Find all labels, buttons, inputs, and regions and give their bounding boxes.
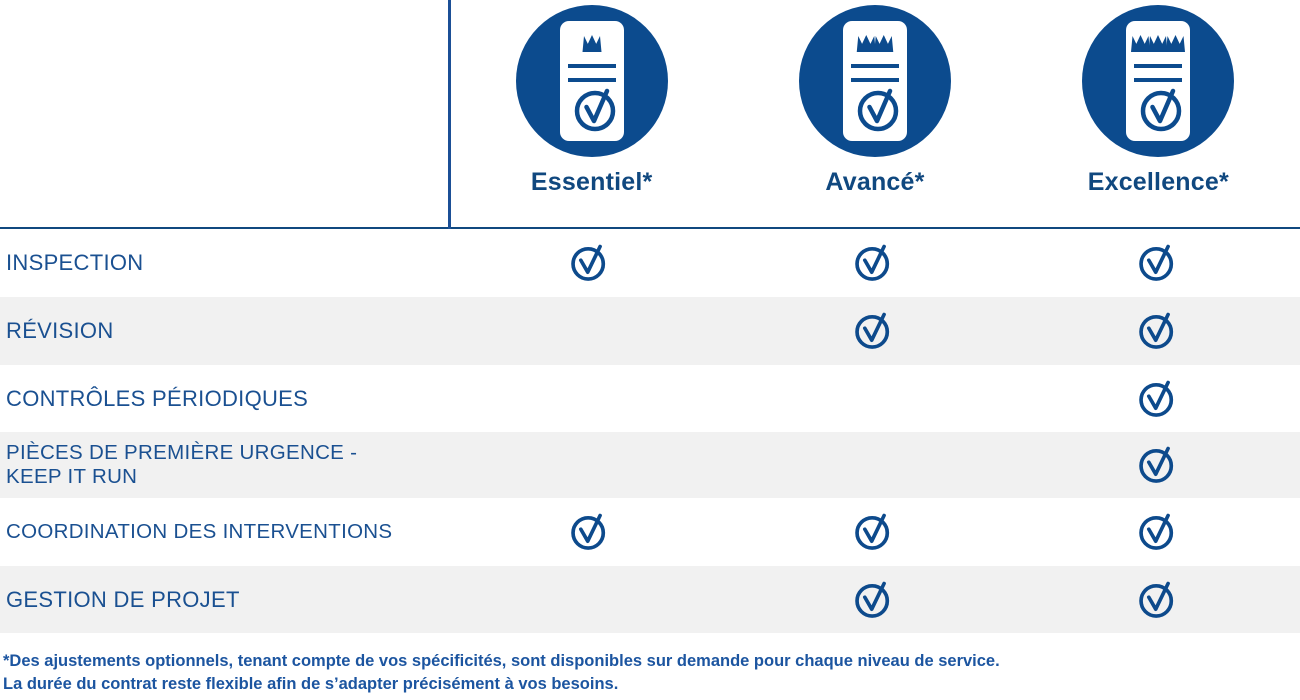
check-circle-icon [1136, 377, 1180, 421]
cell-included [1016, 309, 1300, 353]
row-cells [448, 229, 1300, 297]
row-label: GESTION DE PROJET [0, 587, 448, 613]
cell-included [732, 578, 1016, 622]
table-row: RÉVISION [0, 297, 1300, 365]
check-circle-icon [1136, 309, 1180, 353]
row-label: PIÈCES DE PREMIÈRE URGENCE - KEEP IT RUN [0, 441, 448, 489]
cell-included [732, 241, 1016, 285]
table-row: PIÈCES DE PREMIÈRE URGENCE - KEEP IT RUN [0, 432, 1300, 498]
tier-header-columns: Essentiel* Avancé* Excellence* [450, 0, 1300, 229]
check-circle-icon [1136, 510, 1180, 554]
row-cells [448, 566, 1300, 633]
table-header: Essentiel* Avancé* Excellence* [0, 0, 1300, 229]
certificate-1-crown-icon [516, 5, 668, 157]
tier-label: Avancé* [825, 170, 924, 195]
cell-included [448, 510, 732, 554]
table-row: INSPECTION [0, 229, 1300, 297]
table-body: INSPECTION RÉVISION CONTRÔLES PÉRIODIQUE… [0, 229, 1300, 633]
tier-label: Excellence* [1088, 170, 1229, 195]
row-label: RÉVISION [0, 318, 448, 344]
check-circle-icon [852, 309, 896, 353]
table-row: COORDINATION DES INTERVENTIONS [0, 498, 1300, 566]
cell-included [732, 309, 1016, 353]
tier-column-1: Essentiel* [450, 0, 733, 229]
certificate-3-crowns-icon [1082, 5, 1234, 157]
cell-included [1016, 377, 1300, 421]
row-cells [448, 432, 1300, 498]
row-cells [448, 297, 1300, 365]
row-label: COORDINATION DES INTERVENTIONS [0, 520, 448, 544]
cell-included [732, 510, 1016, 554]
check-circle-icon [852, 578, 896, 622]
check-circle-icon [1136, 241, 1180, 285]
check-circle-icon [852, 241, 896, 285]
cell-included [448, 241, 732, 285]
check-circle-icon [568, 510, 612, 554]
footnote-text: *Des ajustements optionnels, tenant comp… [3, 650, 1000, 697]
check-circle-icon [568, 241, 612, 285]
cell-included [1016, 241, 1300, 285]
check-circle-icon [852, 510, 896, 554]
check-circle-icon [1136, 443, 1180, 487]
row-label: INSPECTION [0, 250, 448, 276]
table-row: GESTION DE PROJET [0, 566, 1300, 633]
row-cells [448, 498, 1300, 566]
tier-label: Essentiel* [531, 170, 653, 195]
cell-included [1016, 578, 1300, 622]
tier-column-3: Excellence* [1017, 0, 1300, 229]
row-cells [448, 365, 1300, 432]
cell-included [1016, 443, 1300, 487]
cell-included [1016, 510, 1300, 554]
certificate-2-crowns-icon [799, 5, 951, 157]
table-row: CONTRÔLES PÉRIODIQUES [0, 365, 1300, 432]
check-circle-icon [1136, 578, 1180, 622]
service-level-comparison-table: Essentiel* Avancé* Excellence* INSPECTIO… [0, 0, 1300, 700]
row-label: CONTRÔLES PÉRIODIQUES [0, 386, 448, 412]
tier-column-2: Avancé* [733, 0, 1016, 229]
